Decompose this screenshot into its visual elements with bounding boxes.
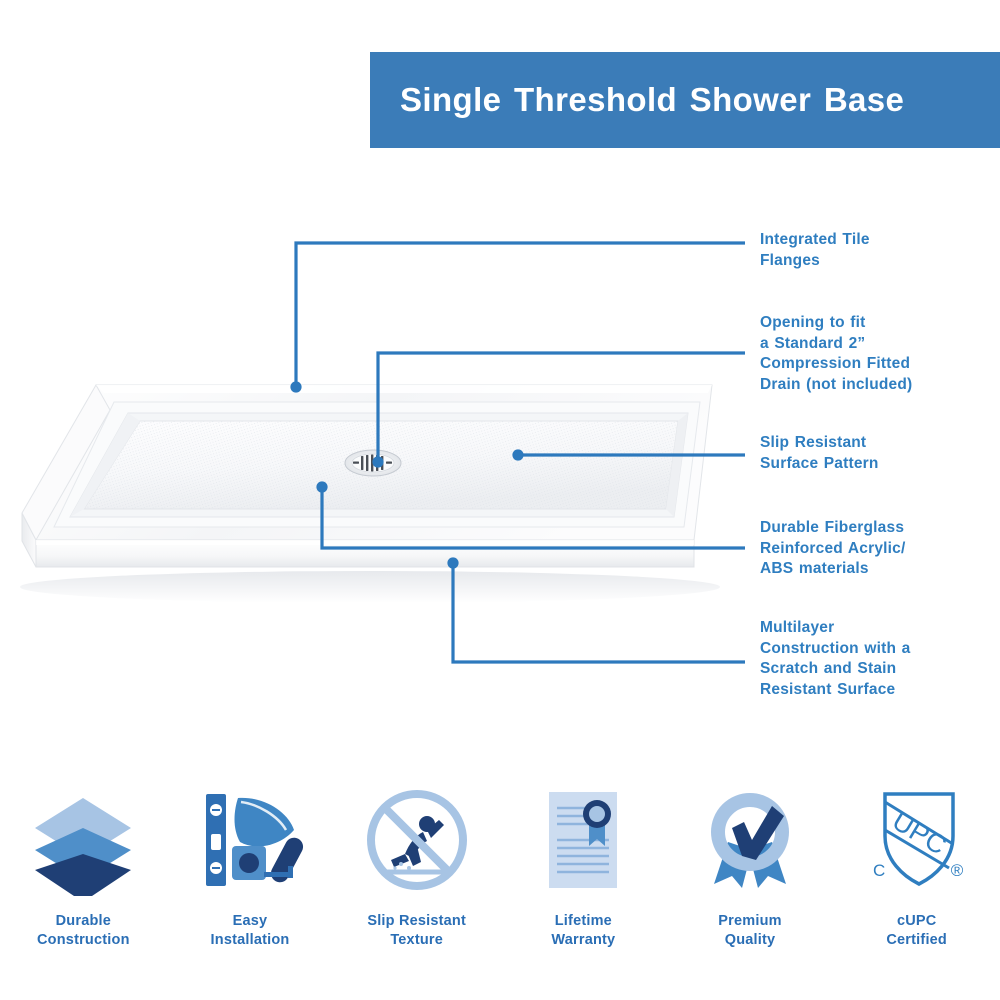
feature-slip-resistant-texture: Slip Resistant Texture xyxy=(333,780,500,980)
award-checkmark-icon xyxy=(690,780,810,900)
feature-label-premium-quality: Premium Quality xyxy=(718,912,781,950)
product-shadow xyxy=(20,571,720,603)
callout-drain-opening: Opening to fit a Standard 2” Compression… xyxy=(760,313,912,395)
callout-slip-resistant-surface: Slip Resistant Surface Pattern xyxy=(760,433,879,474)
feature-label-lifetime-warranty: Lifetime Warranty xyxy=(551,912,615,950)
feature-label-cupc-certified: cUPC Certified xyxy=(886,912,947,950)
drain-opening xyxy=(345,450,401,476)
infographic-canvas: Single Threshold Shower Base xyxy=(0,0,1000,1000)
rim-highlight-top xyxy=(96,385,712,393)
page-title: Single Threshold Shower Base xyxy=(370,81,904,119)
upc-left-mark: C xyxy=(873,861,885,880)
level-trowel-tape-icon xyxy=(190,780,310,900)
feature-label-easy-installation: Easy Installation xyxy=(211,912,290,950)
callout-durable-materials: Durable Fiberglass Reinforced Acrylic/ A… xyxy=(760,518,906,580)
title-banner: Single Threshold Shower Base xyxy=(370,52,1000,148)
shower-base-illustration xyxy=(0,355,740,620)
feature-cupc-certified: UPC C ® cUPC Certified xyxy=(833,780,1000,980)
certificate-ribbon-icon xyxy=(523,780,643,900)
front-highlight xyxy=(36,540,694,545)
feature-premium-quality: Premium Quality xyxy=(667,780,834,980)
feature-badges-row: Durable Construction xyxy=(0,780,1000,980)
upc-right-mark: ® xyxy=(950,861,963,880)
no-slip-prohibition-icon xyxy=(357,780,477,900)
callout-integrated-tile-flanges: Integrated Tile Flanges xyxy=(760,230,870,271)
callout-multilayer-construction: Multilayer Construction with a Scratch a… xyxy=(760,618,910,700)
stacked-layers-icon xyxy=(23,780,143,900)
feature-durable-construction: Durable Construction xyxy=(0,780,167,980)
feature-easy-installation: Easy Installation xyxy=(167,780,334,980)
feature-label-durable-construction: Durable Construction xyxy=(37,912,130,950)
feature-lifetime-warranty: Lifetime Warranty xyxy=(500,780,667,980)
upc-shield-icon: UPC C ® xyxy=(857,780,977,900)
feature-label-slip-resistant-texture: Slip Resistant Texture xyxy=(367,912,466,950)
